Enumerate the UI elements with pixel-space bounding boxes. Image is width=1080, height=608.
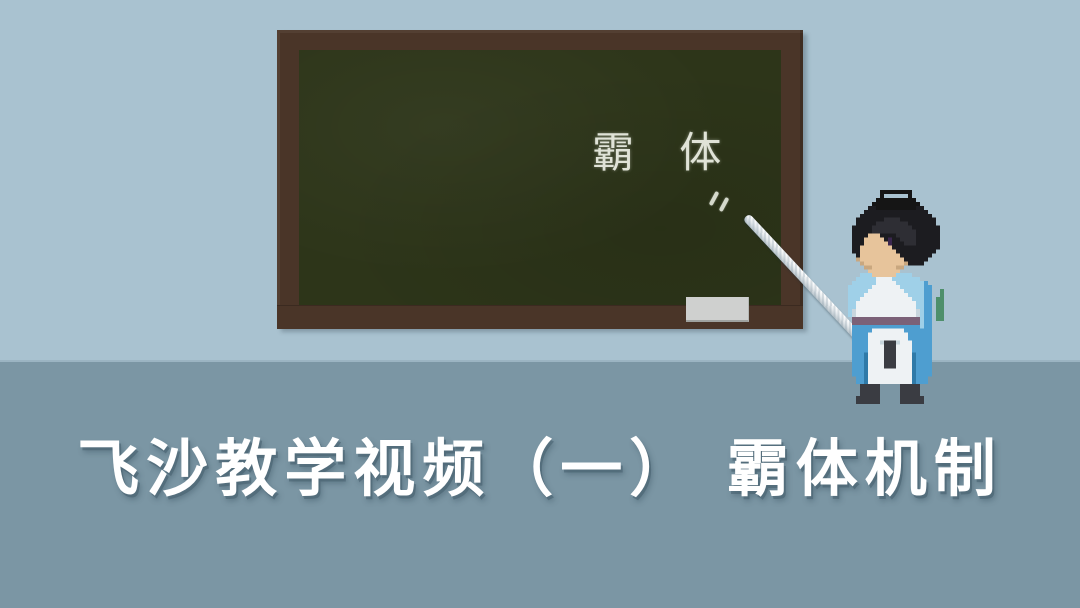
page-title: 飞沙教学视频（一） 霸体机制 (0, 430, 1080, 508)
blackboard-chalk-text: 霸 体 (592, 132, 737, 174)
blackboard-surface (299, 50, 781, 305)
teacher-character-sprite (840, 186, 952, 408)
blackboard-eraser (686, 297, 749, 322)
title-card-scene: 霸 体 飞沙教学视频（一） 霸体机制 (0, 0, 1080, 608)
